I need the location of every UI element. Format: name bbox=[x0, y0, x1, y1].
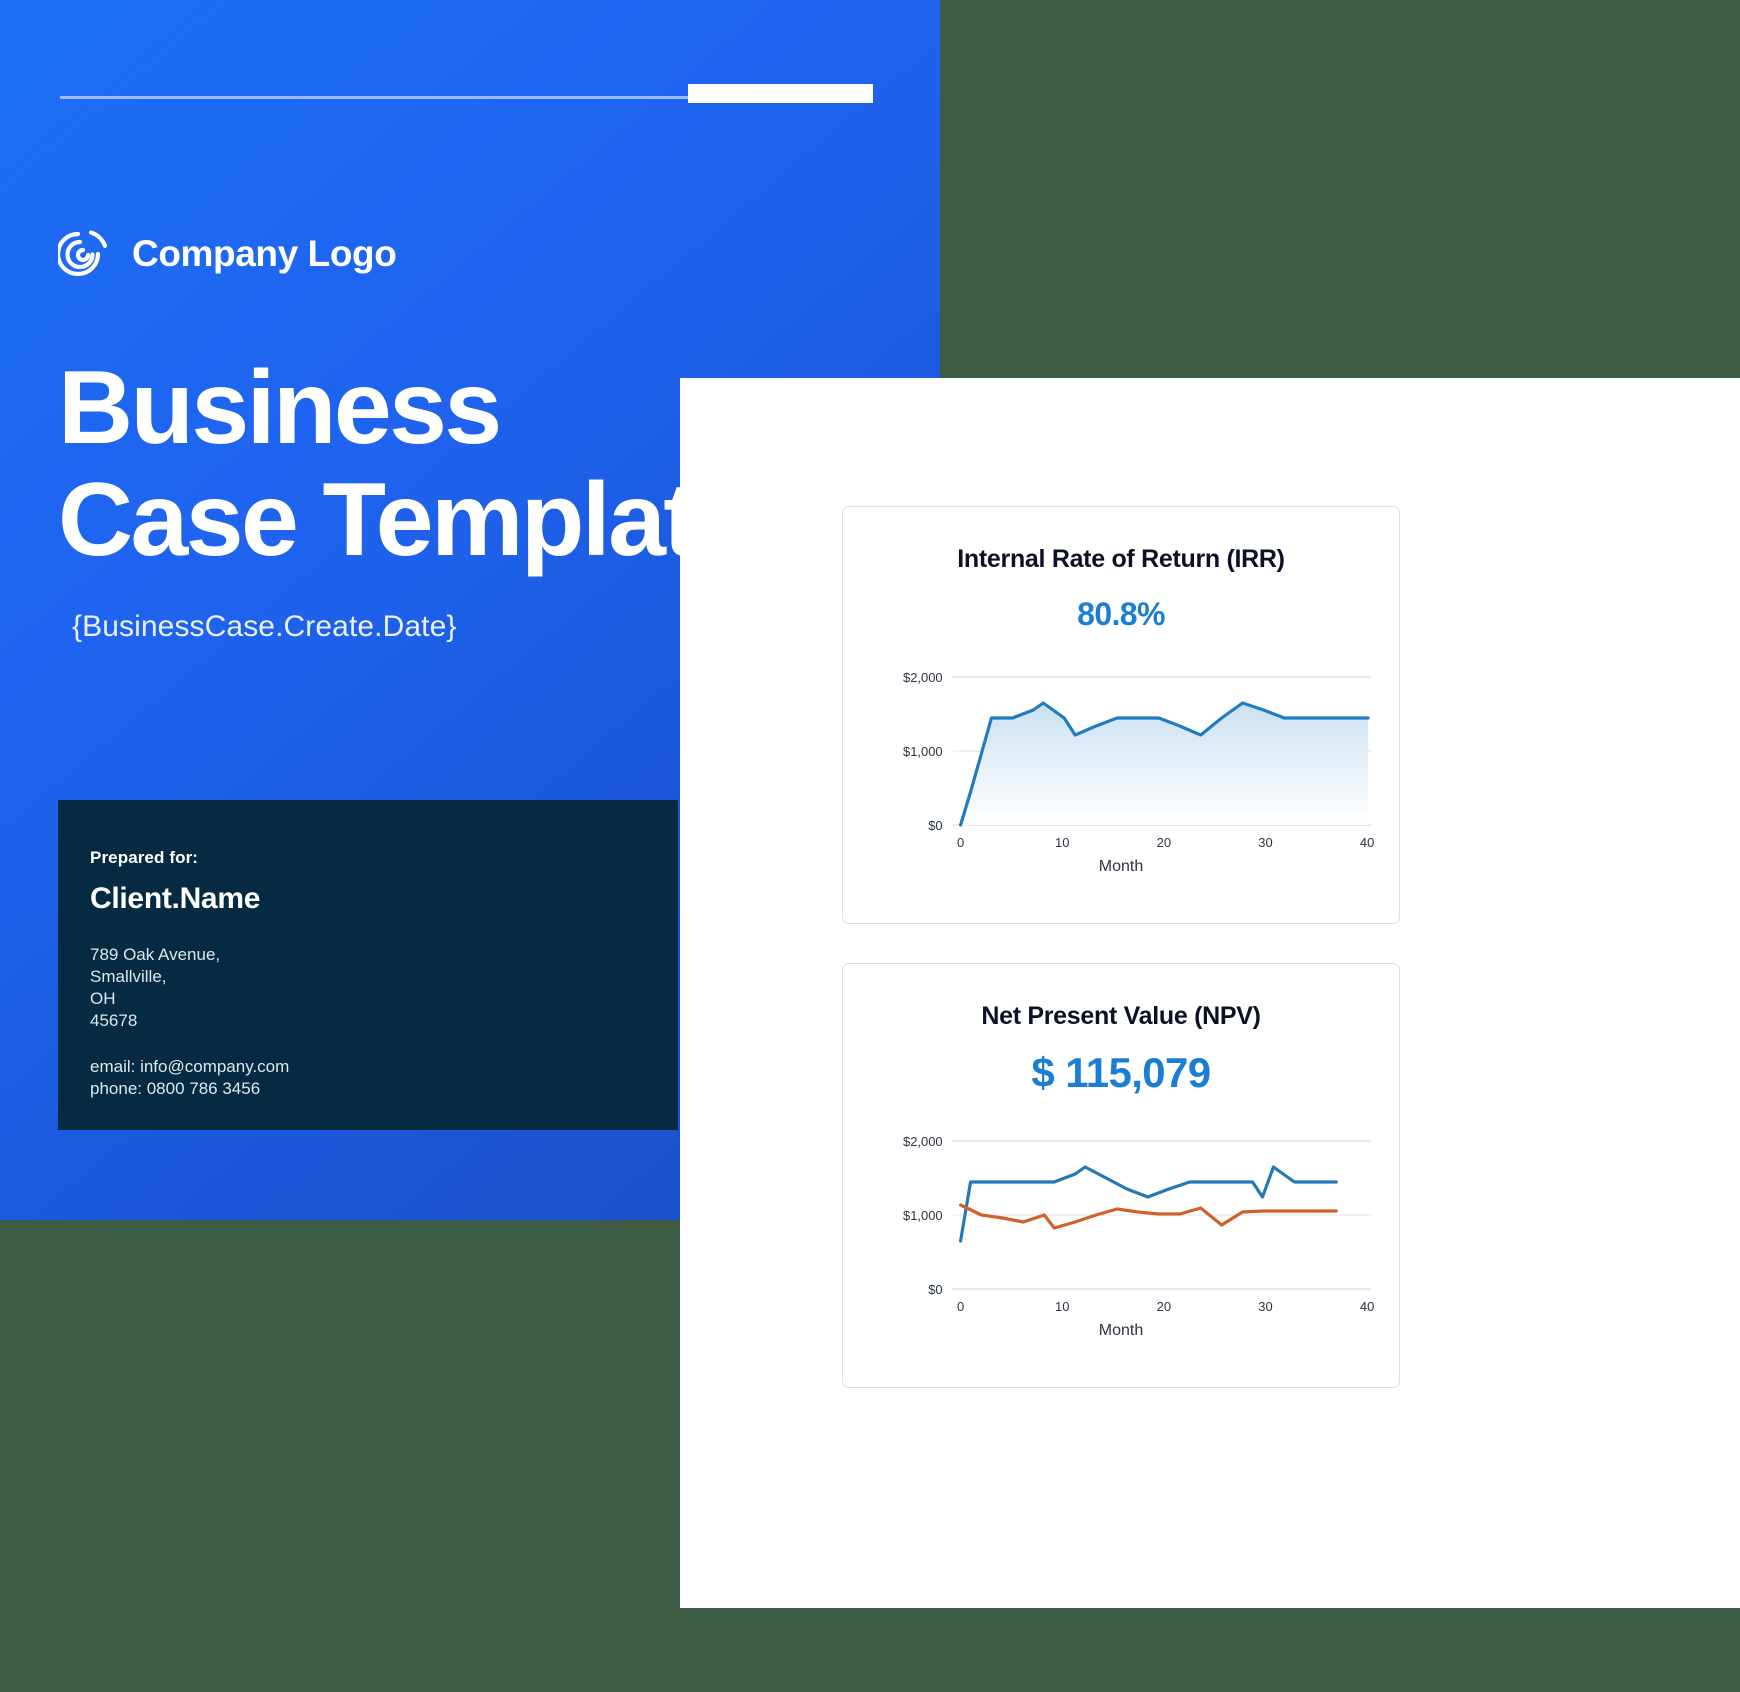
irr-plot: $2,000 $1,000 $0 0 10 20 30 40 bbox=[843, 651, 1399, 856]
x-tick-40: 40 bbox=[1360, 1299, 1374, 1314]
y-tick-2000: $2,000 bbox=[903, 1134, 943, 1149]
y-tick-1000: $1,000 bbox=[903, 1208, 943, 1223]
x-tick-0: 0 bbox=[957, 835, 964, 850]
circular-swirl-logo-icon bbox=[58, 228, 110, 280]
card-irr-title: Internal Rate of Return (IRR) bbox=[843, 545, 1399, 574]
client-name: Client.Name bbox=[90, 882, 678, 916]
y-tick-1000: $1,000 bbox=[903, 744, 943, 759]
npv-x-axis-label: Month bbox=[843, 1322, 1399, 1340]
contact-phone: phone: 0800 786 3456 bbox=[90, 1078, 678, 1100]
npv-line-discounted bbox=[961, 1205, 1337, 1228]
charts-panel: Internal Rate of Return (IRR) 80.8% bbox=[680, 378, 1740, 1608]
client-address: 789 Oak Avenue, Smallville, OH 45678 bbox=[90, 944, 678, 1032]
client-contact: email: info@company.com phone: 0800 786 … bbox=[90, 1056, 678, 1100]
company-logo: Company Logo bbox=[58, 228, 396, 280]
address-line: 45678 bbox=[90, 1010, 678, 1032]
npv-line-cumulative bbox=[961, 1167, 1337, 1241]
x-tick-40: 40 bbox=[1360, 835, 1374, 850]
x-tick-20: 20 bbox=[1157, 1299, 1171, 1314]
address-line: 789 Oak Avenue, bbox=[90, 944, 678, 966]
npv-chart-svg: $2,000 $1,000 $0 0 10 20 30 40 bbox=[843, 1115, 1399, 1320]
irr-chart-svg: $2,000 $1,000 $0 0 10 20 30 40 bbox=[843, 651, 1399, 856]
x-tick-20: 20 bbox=[1157, 835, 1171, 850]
screenshot-stage: Company Logo Business Case Template {Bus… bbox=[0, 0, 1740, 1692]
y-tick-0: $0 bbox=[928, 818, 942, 833]
prepared-for-block: Prepared for: Client.Name 789 Oak Avenue… bbox=[58, 800, 678, 1130]
x-tick-10: 10 bbox=[1055, 1299, 1069, 1314]
x-tick-30: 30 bbox=[1258, 835, 1272, 850]
card-npv-value: $ 115,079 bbox=[843, 1049, 1399, 1097]
create-date-placeholder: {BusinessCase.Create.Date} bbox=[72, 610, 457, 644]
header-tab-block bbox=[688, 84, 873, 103]
npv-plot: $2,000 $1,000 $0 0 10 20 30 40 bbox=[843, 1115, 1399, 1320]
address-line: OH bbox=[90, 988, 678, 1010]
x-tick-10: 10 bbox=[1055, 835, 1069, 850]
card-npv-title: Net Present Value (NPV) bbox=[843, 1002, 1399, 1031]
address-line: Smallville, bbox=[90, 966, 678, 988]
card-irr-value: 80.8% bbox=[843, 596, 1399, 633]
company-logo-text: Company Logo bbox=[132, 233, 396, 275]
prepared-for-label: Prepared for: bbox=[90, 848, 678, 868]
x-tick-0: 0 bbox=[957, 1299, 964, 1314]
x-tick-30: 30 bbox=[1258, 1299, 1272, 1314]
y-tick-0: $0 bbox=[928, 1282, 942, 1297]
irr-x-axis-label: Month bbox=[843, 858, 1399, 876]
card-irr: Internal Rate of Return (IRR) 80.8% bbox=[842, 506, 1400, 924]
contact-email: email: info@company.com bbox=[90, 1056, 678, 1078]
y-tick-2000: $2,000 bbox=[903, 670, 943, 685]
card-npv: Net Present Value (NPV) $ 115,079 $2,000… bbox=[842, 963, 1400, 1388]
